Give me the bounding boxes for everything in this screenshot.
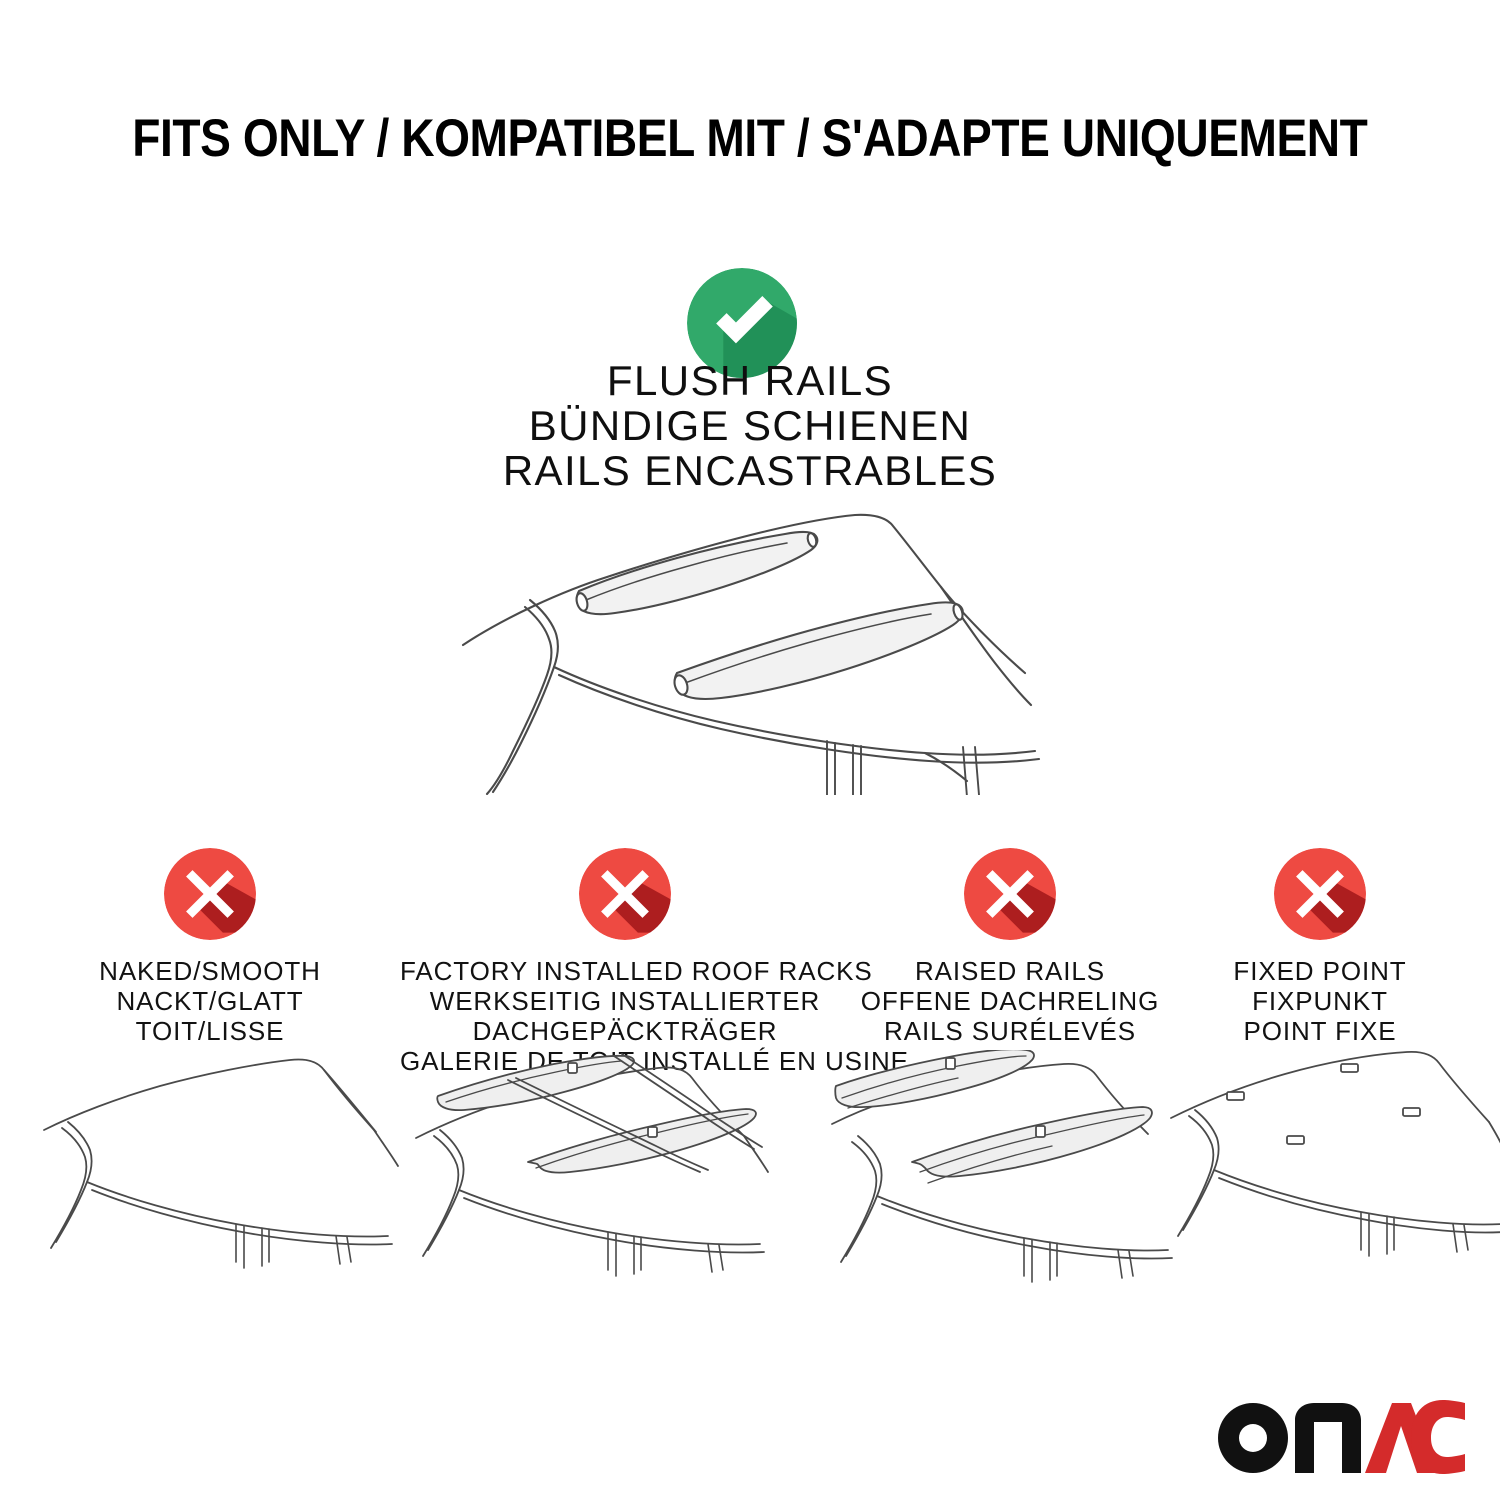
incompatible-column-factory-racks: FACTORY INSTALLED ROOF RACKS WERKSEITIG … (400, 848, 850, 1076)
incompatible-label-line-de-1: WERKSEITIG INSTALLIERTER (400, 986, 850, 1016)
compatible-heading-line-de: BÜNDIGE SCHIENEN (250, 403, 1250, 448)
logo-letter-o (1218, 1403, 1288, 1473)
car-roof-fixed-point-diagram (1165, 1050, 1500, 1290)
compatible-heading-line-en: FLUSH RAILS (250, 358, 1250, 403)
red-x-icon (579, 848, 671, 940)
incompatible-icon-wrap (840, 848, 1180, 948)
incompatible-label-line-en: RAISED RAILS (840, 956, 1180, 986)
page-title: FITS ONLY / KOMPATIBEL MIT / S'ADAPTE UN… (0, 108, 1500, 169)
red-x-icon (964, 848, 1056, 940)
red-x-icon (1274, 848, 1366, 940)
page-title-text: FITS ONLY / KOMPATIBEL MIT / S'ADAPTE UN… (132, 108, 1367, 169)
incompatible-label: RAISED RAILS OFFENE DACHRELING RAILS SUR… (840, 956, 1180, 1046)
compatible-heading-line-fr: RAILS ENCASTRABLES (250, 448, 1250, 493)
omac-logo (1215, 1398, 1465, 1476)
incompatible-label-line-en: FIXED POINT (1170, 956, 1470, 986)
logo-letter-c (1411, 1400, 1465, 1474)
incompatible-label-line-en: FACTORY INSTALLED ROOF RACKS (400, 956, 850, 986)
car-roof-flush-rails-diagram (455, 495, 1055, 795)
car-roof-raised-rails-diagram (808, 1050, 1178, 1290)
incompatible-icon-wrap (1170, 848, 1470, 948)
incompatible-column-fixed-point: FIXED POINT FIXPUNKT POINT FIXE (1170, 848, 1470, 1046)
incompatible-label: NAKED/SMOOTH NACKT/GLATT TOIT/LISSE (30, 956, 390, 1046)
car-roof-bare-diagram (40, 1050, 400, 1290)
incompatible-icon-wrap (30, 848, 390, 948)
incompatible-label-line-de: NACKT/GLATT (30, 986, 390, 1016)
incompatible-label-line-en: NAKED/SMOOTH (30, 956, 390, 986)
incompatible-label-line-fr: TOIT/LISSE (30, 1016, 390, 1046)
incompatible-column-naked: NAKED/SMOOTH NACKT/GLATT TOIT/LISSE (30, 848, 390, 1046)
incompatible-label-line-fr: POINT FIXE (1170, 1016, 1470, 1046)
car-roof-factory-crossbars-diagram (408, 1050, 778, 1290)
incompatible-label-line-de: FIXPUNKT (1170, 986, 1470, 1016)
incompatible-label-line-de: OFFENE DACHRELING (840, 986, 1180, 1016)
incompatible-label-line-de-2: DACHGEPÄCKTRÄGER (400, 1016, 850, 1046)
incompatible-column-raised-rails: RAISED RAILS OFFENE DACHRELING RAILS SUR… (840, 848, 1180, 1046)
logo-letter-m (1295, 1403, 1361, 1473)
incompatible-label: FIXED POINT FIXPUNKT POINT FIXE (1170, 956, 1470, 1046)
incompatible-icon-wrap (400, 848, 850, 948)
incompatible-label-line-fr: RAILS SURÉLEVÉS (840, 1016, 1180, 1046)
red-x-icon (164, 848, 256, 940)
infographic-page: FITS ONLY / KOMPATIBEL MIT / S'ADAPTE UN… (0, 0, 1500, 1500)
compatible-heading: FLUSH RAILS BÜNDIGE SCHIENEN RAILS ENCAS… (250, 358, 1250, 493)
